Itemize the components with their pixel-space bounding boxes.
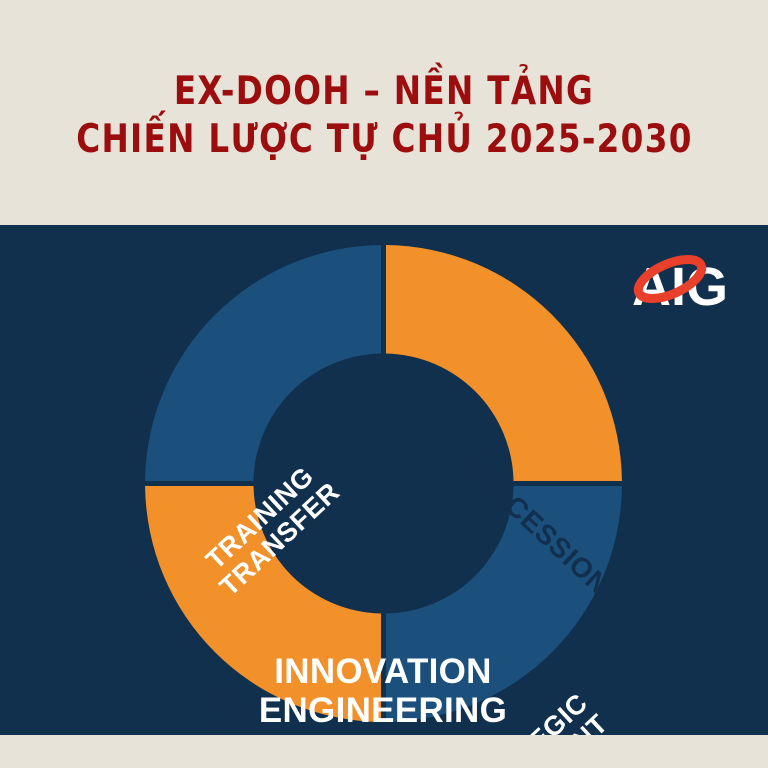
- aig-logo: AIG: [628, 253, 752, 313]
- diagram-panel: AIG TRAINING TRANSFER SUCCESSION: [0, 225, 768, 735]
- segment-consulting: [145, 486, 381, 722]
- title-line-1: EX-DOOH – NỀN TẢNG: [174, 68, 594, 116]
- quadrant-donut: [145, 245, 622, 722]
- poster-root: EX-DOOH – NỀN TẢNG CHIẾN LƯỢC TỰ CHỦ 202…: [0, 0, 768, 768]
- svg-text:AIG: AIG: [632, 257, 728, 313]
- segment-training-transfer: [145, 245, 381, 481]
- segment-strategic-document: [386, 486, 622, 722]
- segment-succession: [386, 245, 622, 481]
- title-band: EX-DOOH – NỀN TẢNG CHIẾN LƯỢC TỰ CHỦ 202…: [0, 0, 768, 225]
- aig-wordmark-text: AIG: [632, 257, 728, 313]
- title-line-2: CHIẾN LƯỢC TỰ CHỦ 2025-2030: [76, 116, 693, 164]
